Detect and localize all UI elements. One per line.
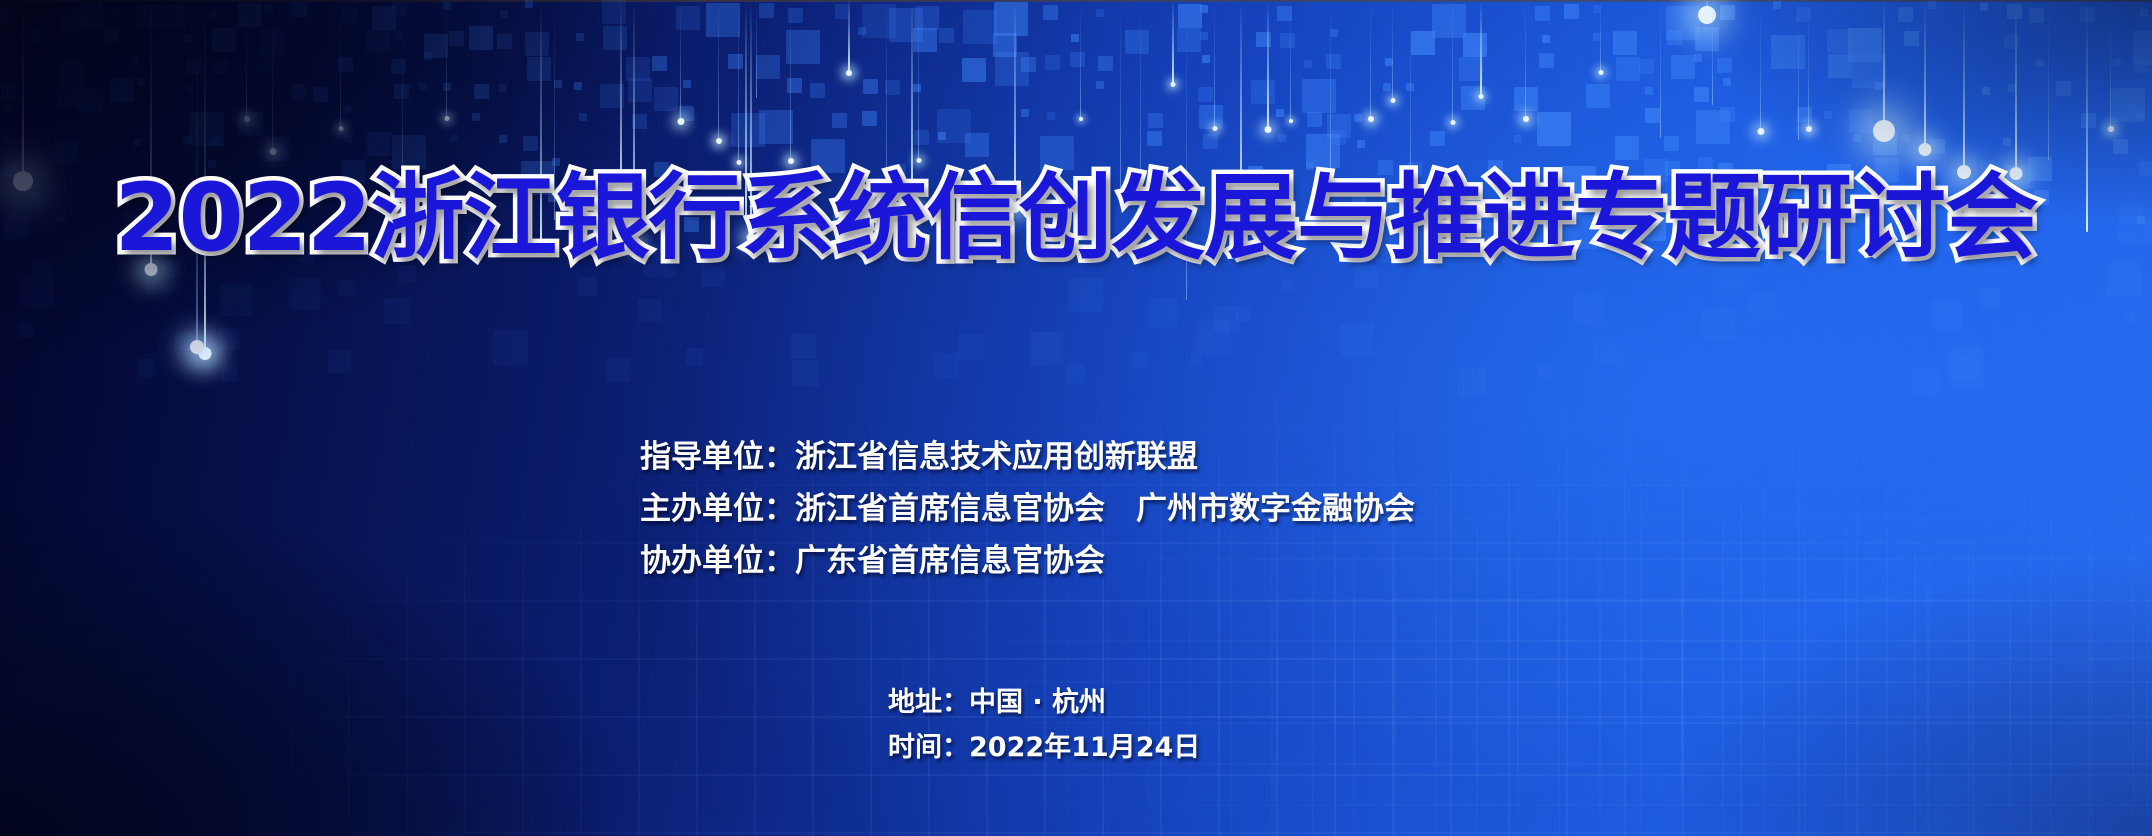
organizer-line-guidance: 指导单位：浙江省信息技术应用创新联盟 xyxy=(640,431,1415,483)
organizer-block: 指导单位：浙江省信息技术应用创新联盟 主办单位：浙江省首席信息官协会 广州市数字… xyxy=(640,431,1415,587)
organizer-line-coorganizer: 协办单位：广东省首席信息官协会 xyxy=(640,535,1415,587)
organizer-line-host: 主办单位：浙江省首席信息官协会 广州市数字金融协会 xyxy=(640,483,1415,535)
event-poster: 2022浙江银行系统信创发展与推进专题研讨会 指导单位：浙江省信息技术应用创新联… xyxy=(0,0,2152,836)
page-title: 2022浙江银行系统信创发展与推进专题研讨会 xyxy=(114,172,2037,266)
title-container: 2022浙江银行系统信创发展与推进专题研讨会 xyxy=(0,172,2152,266)
venue-date: 时间：2022年11月24日 xyxy=(888,725,1200,770)
vignette-top-left xyxy=(0,0,1334,485)
venue-address: 地址：中国 · 杭州 xyxy=(888,680,1200,725)
venue-block: 地址：中国 · 杭州 时间：2022年11月24日 xyxy=(888,680,1200,770)
vignette-top-right xyxy=(1291,0,2152,293)
top-rule-divider xyxy=(0,0,2152,2)
